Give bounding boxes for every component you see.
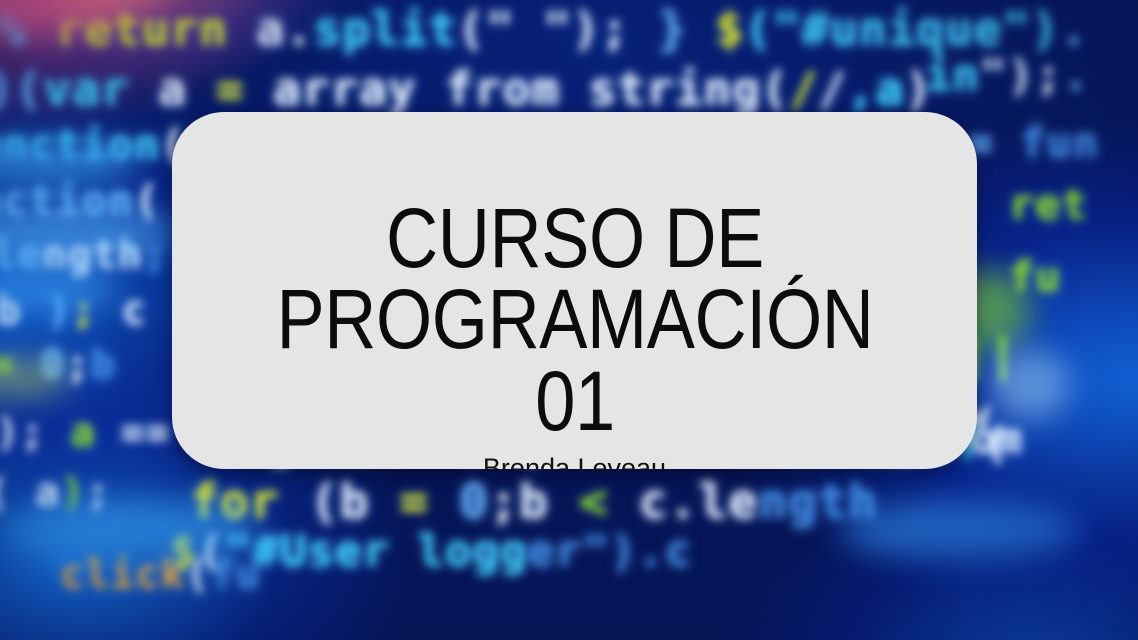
title-line-2: PROGRAMACIÓN 01 xyxy=(265,279,884,442)
author-name: Brenda Leveau xyxy=(483,452,666,469)
presentation-slide: % return a.split(" "); } $("#unique"). )… xyxy=(0,0,1138,640)
title-line-1: CURSO DE xyxy=(265,198,884,279)
page-title: CURSO DE PROGRAMACIÓN 01 xyxy=(265,198,884,442)
title-card: CURSO DE PROGRAMACIÓN 01 Brenda Leveau A… xyxy=(172,112,977,469)
